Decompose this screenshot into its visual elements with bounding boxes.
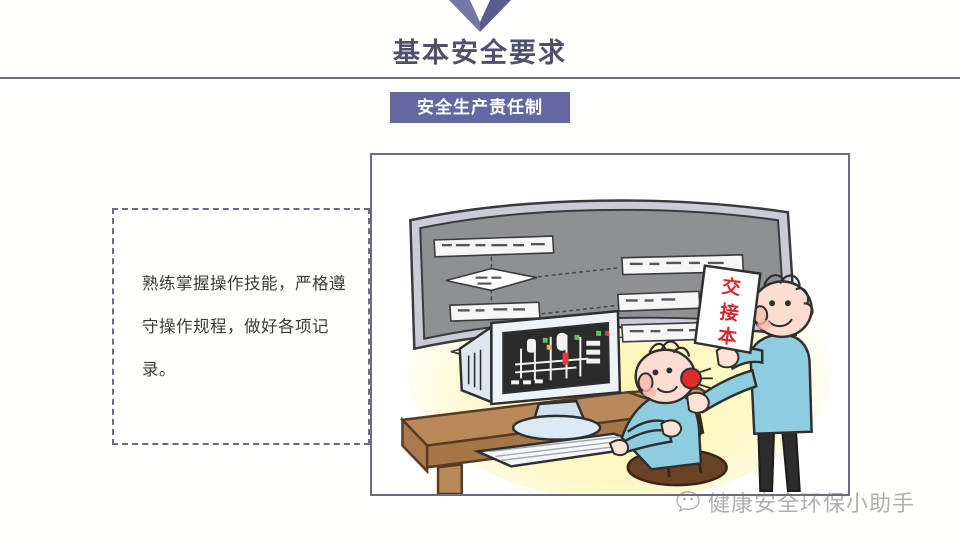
illustration-artwork: 交 接 本: [372, 155, 848, 494]
callout-box: 熟练掌握操作技能，严格遵守操作规程，做好各项记录。: [112, 208, 370, 445]
callout-text: 熟练掌握操作技能，严格遵守操作规程，做好各项记录。: [114, 262, 368, 391]
svg-text:交: 交: [721, 274, 743, 299]
status-badge: 安全生产责任制: [390, 92, 570, 123]
watermark-text: 健康安全环保小助手: [708, 486, 915, 518]
status-badge-label: 安全生产责任制: [417, 92, 543, 123]
svg-text:本: 本: [717, 324, 739, 349]
header-divider: [0, 77, 960, 79]
slide-header: 基本安全要求: [0, 0, 960, 80]
page-title: 基本安全要求: [0, 36, 960, 70]
handover-document: 交 接 本: [695, 266, 760, 353]
illustration-frame: 交 接 本: [370, 153, 850, 496]
wechat-icon: [676, 489, 706, 515]
svg-text:接: 接: [719, 301, 741, 325]
slide-root: 基本安全要求 安全生产责任制 熟练掌握操作技能，严格遵守操作规程，做好各项记录。: [0, 0, 960, 540]
v-chevron-logo: [447, 0, 513, 32]
watermark: 健康安全环保小助手: [676, 484, 948, 520]
